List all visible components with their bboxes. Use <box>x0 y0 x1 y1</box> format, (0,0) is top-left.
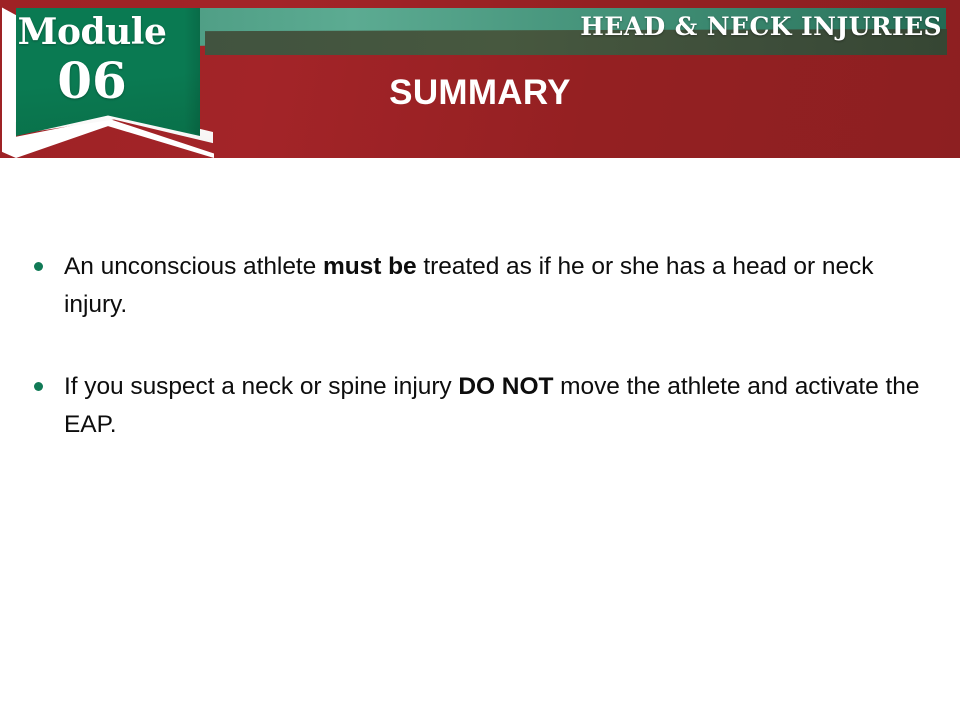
header-subject-label: HEAD & NECK INJURIES <box>580 14 942 39</box>
slide-body: An unconscious athlete must be treated a… <box>26 248 938 444</box>
badge-module-number: 06 <box>0 56 184 106</box>
badge-shade-overlay <box>184 8 200 136</box>
bullet-dot-icon <box>34 262 43 271</box>
bullet-item: An unconscious athlete must be treated a… <box>26 248 938 324</box>
slide-header: HEAD & NECK INJURIES SUMMARY Module 06 <box>0 0 960 158</box>
bullet-item: If you suspect a neck or spine injury DO… <box>26 368 938 444</box>
bullet-dot-icon <box>34 382 43 391</box>
bullet-text: If you suspect a neck or spine injury DO… <box>64 373 919 438</box>
bullet-text: An unconscious athlete must be treated a… <box>64 253 873 318</box>
module-badge: Module 06 <box>0 0 216 158</box>
badge-module-label: Module <box>0 14 184 50</box>
slide: HEAD & NECK INJURIES SUMMARY Module 06 A… <box>0 0 960 720</box>
